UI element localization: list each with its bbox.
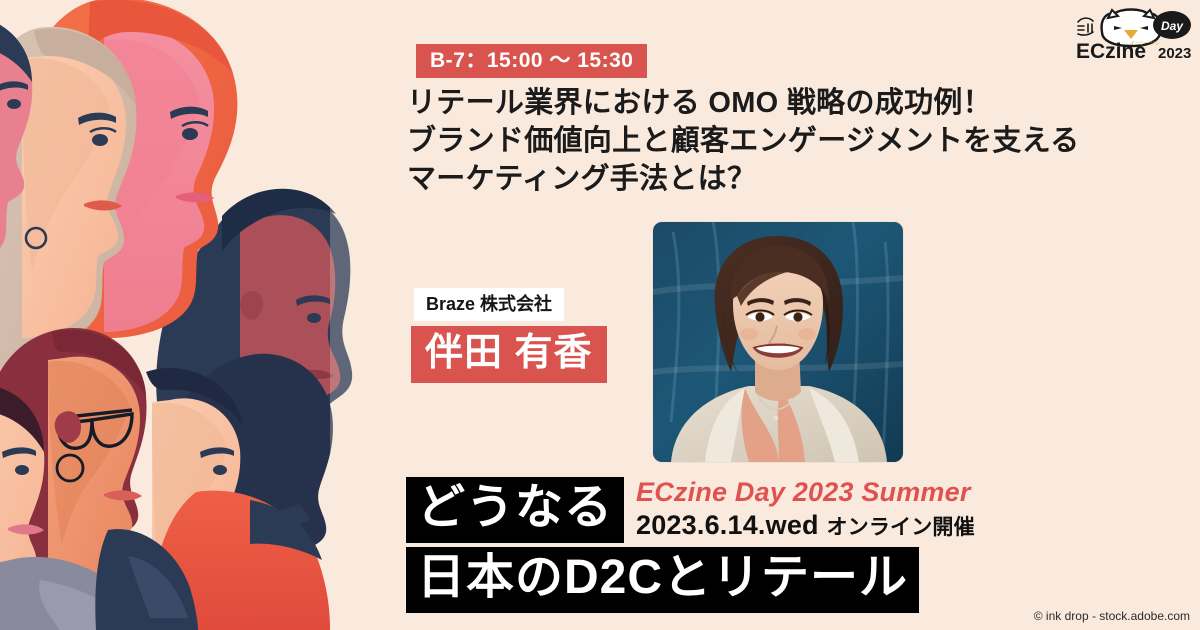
logo-year-text: 2023	[1158, 45, 1191, 62]
event-catch-line-2: 日本のD2Cとリテール	[406, 547, 919, 613]
session-title: リテール業界における OMO 戦略の成功例！ ブランド価値向上と顧客エンゲージメ…	[407, 84, 1167, 198]
event-format: オンライン開催	[826, 516, 974, 539]
logo-day-text: Day	[1161, 19, 1184, 33]
diverse-faces-illustration	[0, 0, 420, 630]
speaker-photo	[653, 222, 903, 462]
speaker-company: Braze 株式会社	[414, 288, 564, 321]
session-title-line-3: マーケティング手法とは？	[407, 160, 1167, 198]
event-date-line: 2023.6.14.wed オンライン開催	[636, 512, 975, 539]
event-name-en: ECzine Day 2023 Summer	[636, 479, 971, 506]
session-title-line-1: リテール業界における OMO 戦略の成功例！	[407, 84, 1167, 122]
poster-canvas: B-7：15:00 ～ 15:30 リテール業界における OMO 戦略の成功例！…	[0, 0, 1200, 630]
eczine-day-logo: Day ECzine 2023 イーシージン	[1072, 6, 1192, 64]
photo-credit: © ink drop - stock.adobe.com	[1034, 610, 1190, 622]
logo-ruby-text: イーシージン	[1130, 41, 1160, 47]
session-title-line-2: ブランド価値向上と顧客エンゲージメントを支える	[407, 122, 1167, 160]
session-badge: B-7：15:00 ～ 15:30	[416, 44, 647, 78]
speaker-name: 伴田 有香	[411, 326, 607, 383]
event-date: 2023.6.14.wed	[636, 510, 819, 540]
event-catch-line-1: どうなる	[406, 477, 624, 543]
